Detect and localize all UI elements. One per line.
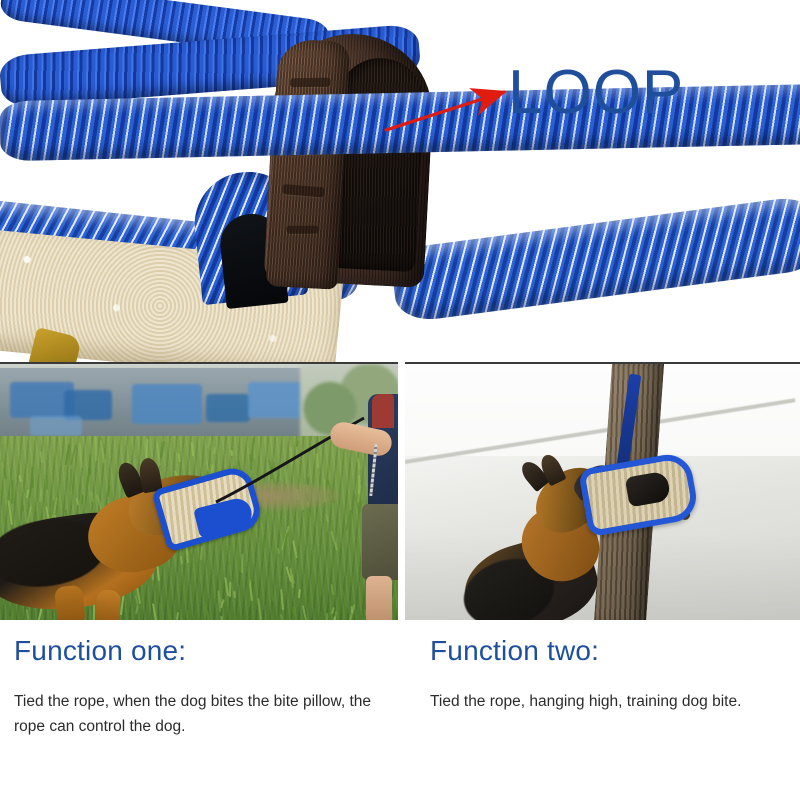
- grass-blade: [331, 531, 339, 551]
- dog-rear-leg: [95, 589, 121, 622]
- grass-blade: [194, 560, 201, 582]
- grass-blade: [79, 443, 83, 468]
- grass-blade: [39, 488, 43, 502]
- grass-blade: [202, 562, 205, 574]
- grass-blade: [311, 555, 314, 569]
- caption-column-one: Function one: Tied the rope, when the do…: [14, 620, 374, 739]
- grass-blade: [241, 554, 243, 573]
- handler-shorts: [362, 504, 398, 580]
- grass-blade: [337, 597, 339, 621]
- function-two-title: Function two:: [430, 636, 800, 667]
- usage-photo-leash-control: [0, 362, 398, 622]
- grass-blade: [345, 509, 352, 531]
- function-two-body: Tied the rope, hanging high, training do…: [430, 689, 800, 714]
- grass-blade: [291, 574, 295, 584]
- grass-blade: [1, 444, 3, 463]
- grass-blade: [22, 505, 24, 511]
- grass-blade: [332, 555, 335, 567]
- grass-blade: [32, 467, 35, 488]
- grass-blade: [227, 558, 231, 566]
- usage-photo-hanging-tree: [405, 362, 800, 622]
- grass-blade: [326, 532, 330, 552]
- grass-blade: [140, 587, 146, 609]
- grass-blade: [180, 556, 183, 564]
- handler-shirt-accent: [372, 394, 394, 428]
- grass-blade: [120, 595, 124, 615]
- grass-blade: [296, 553, 300, 560]
- grass-blade: [176, 612, 179, 620]
- grass-blade: [277, 548, 280, 555]
- grass-blade: [204, 602, 210, 622]
- grass-blade: [200, 546, 203, 560]
- grass-blade: [70, 444, 77, 465]
- loop-callout-label: LOOP: [508, 62, 684, 124]
- grass-blade: [81, 495, 84, 504]
- grass-blade: [135, 605, 139, 614]
- dog-front-leg: [54, 585, 86, 622]
- grass-blade: [46, 475, 48, 490]
- grass-blade: [307, 507, 310, 525]
- function-one-title: Function one:: [14, 636, 374, 667]
- grass-blade: [90, 491, 94, 502]
- grass-blade: [39, 451, 43, 463]
- grass-blade: [89, 454, 92, 475]
- caption-column-two: Function two: Tied the rope, hanging hig…: [430, 620, 800, 714]
- grass-blade: [191, 442, 194, 456]
- function-one-body: Tied the rope, when the dog bites the bi…: [14, 689, 374, 739]
- grass-blade: [280, 589, 284, 610]
- loop-front-strap: [266, 38, 351, 289]
- grass-blade: [19, 475, 23, 482]
- usage-photo-row: [0, 362, 800, 620]
- grass-blade: [94, 436, 97, 461]
- grass-blade: [3, 468, 7, 479]
- grass-blade: [186, 610, 188, 618]
- grass-blade: [207, 437, 212, 448]
- grass-blade: [283, 532, 289, 549]
- grass-blade: [271, 587, 274, 601]
- infographic-page: LOOP: [0, 0, 800, 800]
- grass-blade: [160, 441, 165, 458]
- grass-blade: [75, 498, 78, 505]
- grass-blade: [262, 535, 265, 549]
- grass-blade: [69, 469, 72, 491]
- grass-blade: [257, 598, 262, 620]
- grass-blade: [229, 582, 231, 597]
- grass-blade: [35, 510, 38, 520]
- grass-blade: [304, 596, 308, 604]
- caption-block: Function one: Tied the rope, when the do…: [0, 620, 800, 800]
- grass-blade: [233, 591, 236, 598]
- brown-nylon-loop: [262, 34, 462, 296]
- grass-blade: [11, 480, 13, 504]
- grass-blade: [261, 516, 265, 523]
- grass-blade: [107, 485, 110, 497]
- grass-blade: [325, 514, 329, 523]
- grass-blade: [182, 588, 187, 603]
- grass-blade: [330, 584, 334, 595]
- grass-blade: [247, 564, 255, 586]
- product-closeup-panel: LOOP: [0, 0, 800, 362]
- handler-leg: [366, 576, 392, 622]
- grass-blade: [298, 589, 301, 598]
- grass-blade: [177, 453, 181, 462]
- grass-blade: [315, 570, 321, 595]
